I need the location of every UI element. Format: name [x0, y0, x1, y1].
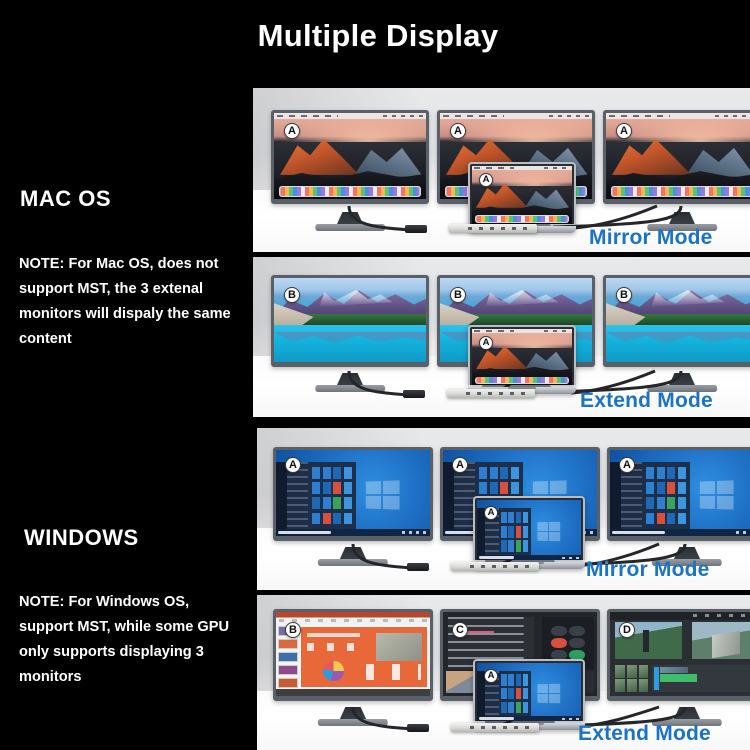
panel-windows-extend-mode: B C — [257, 595, 750, 750]
monitor-left: B — [271, 275, 429, 367]
screen-badge: B — [284, 287, 300, 303]
monitor-right: B — [603, 275, 750, 367]
section-note-mac: NOTE: For Mac OS, does not support MST, … — [19, 252, 245, 352]
monitor-right: A — [603, 110, 750, 204]
monitor-left: B — [273, 609, 433, 701]
cable-plug — [403, 390, 425, 398]
screen-badge: A — [484, 669, 498, 683]
panel-mac-mirror-mode: A A — [253, 88, 750, 252]
multiple-display-infographic: Multiple Display MAC OS NOTE: For Mac OS… — [0, 0, 750, 750]
usb-c-hub — [451, 562, 539, 571]
cable-plug — [405, 225, 427, 233]
screen-badge: A — [285, 457, 301, 473]
section-heading-windows: WINDOWS — [24, 525, 139, 551]
usb-c-hub — [449, 224, 537, 233]
screen-badge: A — [284, 123, 300, 139]
screen-badge: A — [619, 457, 635, 473]
mode-label-windows-mirror: Mirror Mode — [586, 558, 710, 582]
usb-c-hub — [447, 389, 535, 398]
laptop-macbook: A — [468, 325, 576, 394]
mode-label-mac-extend: Extend Mode — [580, 389, 713, 413]
screen-badge: A — [479, 173, 493, 187]
monitor-right: D — [607, 609, 750, 701]
screen-badge: D — [619, 622, 635, 638]
screen-badge: A — [450, 123, 466, 139]
panel-windows-mirror-mode: A — [257, 428, 750, 590]
mode-label-mac-mirror: Mirror Mode — [589, 226, 713, 250]
screen-badge: A — [616, 123, 632, 139]
screen-badge: B — [616, 287, 632, 303]
mode-label-windows-extend: Extend Mode — [578, 722, 711, 746]
screen-badge: A — [484, 506, 498, 520]
cable-plug — [407, 563, 429, 571]
screen-badge: A — [479, 336, 493, 350]
laptop-windows: A — [473, 496, 585, 569]
laptop-macbook: A — [468, 162, 576, 233]
cable-plug — [407, 724, 429, 732]
panel-mac-extend-mode: B B — [253, 257, 750, 417]
laptop-windows: A — [473, 659, 585, 730]
monitor-right: A — [607, 447, 750, 541]
usb-c-hub — [451, 723, 539, 732]
section-heading-mac: MAC OS — [20, 186, 111, 212]
screen-badge: B — [285, 622, 301, 638]
screen-badge: C — [452, 622, 468, 638]
monitor-left: A — [273, 447, 433, 541]
screen-badge: A — [452, 457, 468, 473]
screen-badge: B — [450, 287, 466, 303]
page-title: Multiple Display — [0, 18, 750, 54]
monitor-left: A — [271, 110, 429, 204]
section-note-windows: NOTE: For Windows OS, support MST, while… — [19, 590, 245, 690]
